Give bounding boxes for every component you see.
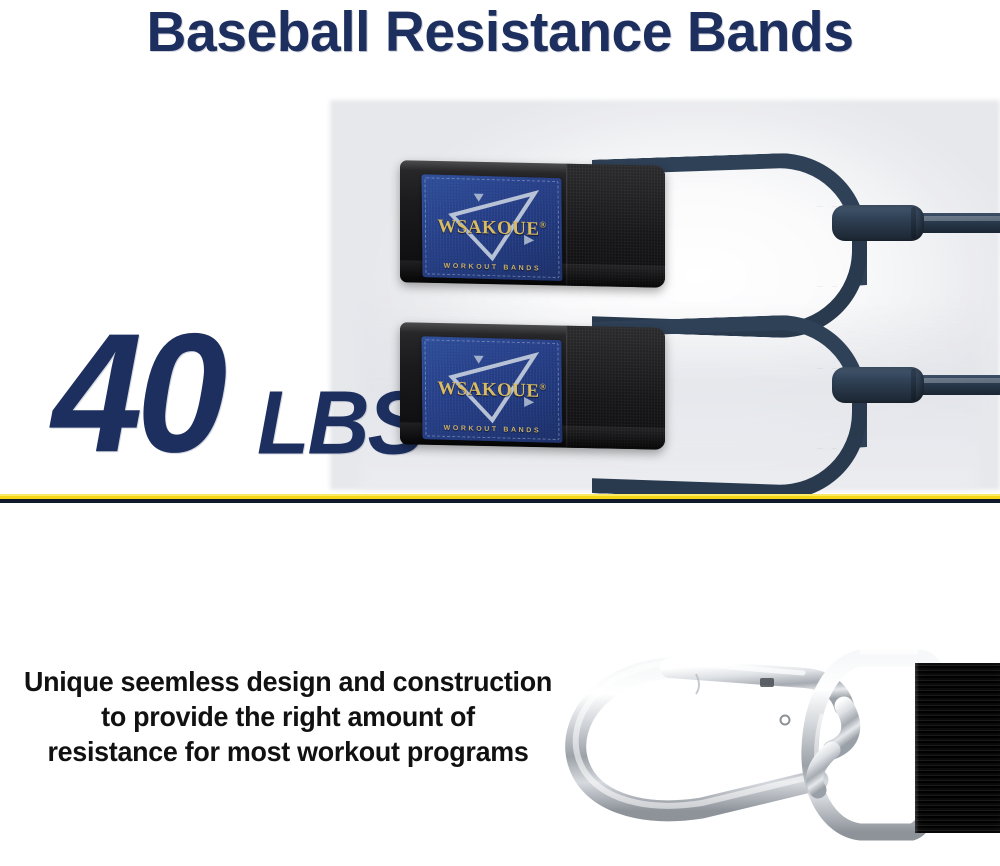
resistance-band-handle-top: WSAKOUE® WORKOUT BANDS	[392, 155, 1000, 300]
strap-edge-highlight	[915, 663, 919, 833]
weight-badge: 40 LBS	[52, 298, 392, 468]
brand-name: WSAKOUE®	[422, 374, 562, 401]
brand-label: WSAKOUE® WORKOUT BANDS	[421, 336, 562, 443]
foam-grip: WSAKOUE® WORKOUT BANDS	[400, 160, 665, 288]
feature-line-3: resistance for most workout programs	[0, 734, 576, 769]
brand-label: WSAKOUE® WORKOUT BANDS	[421, 174, 562, 281]
page-title: Baseball Resistance Bands	[15, 2, 985, 62]
nylon-webbing-strap	[915, 663, 1000, 833]
weight-number: 40	[52, 308, 221, 478]
feature-text: Unique seemless design and construction …	[0, 664, 576, 769]
divider-shadow-line	[0, 499, 1000, 503]
brand-name: WSAKOUE®	[422, 212, 562, 239]
tube-sleeve	[832, 205, 924, 241]
foam-grip: WSAKOUE® WORKOUT BANDS	[400, 322, 665, 450]
hardware-photo	[560, 630, 1000, 866]
resistance-band-handle-bottom: WSAKOUE® WORKOUT BANDS	[392, 317, 1000, 462]
tube-sleeve	[832, 367, 924, 403]
feature-line-1: Unique seemless design and construction	[0, 664, 576, 699]
product-infographic: Baseball Resistance Bands 40 LBS	[0, 0, 1000, 866]
product-stage: 40 LBS WSAKOUE®	[0, 70, 1000, 494]
section-divider	[0, 492, 1000, 504]
feature-line-2: to provide the right amount of	[0, 699, 576, 734]
